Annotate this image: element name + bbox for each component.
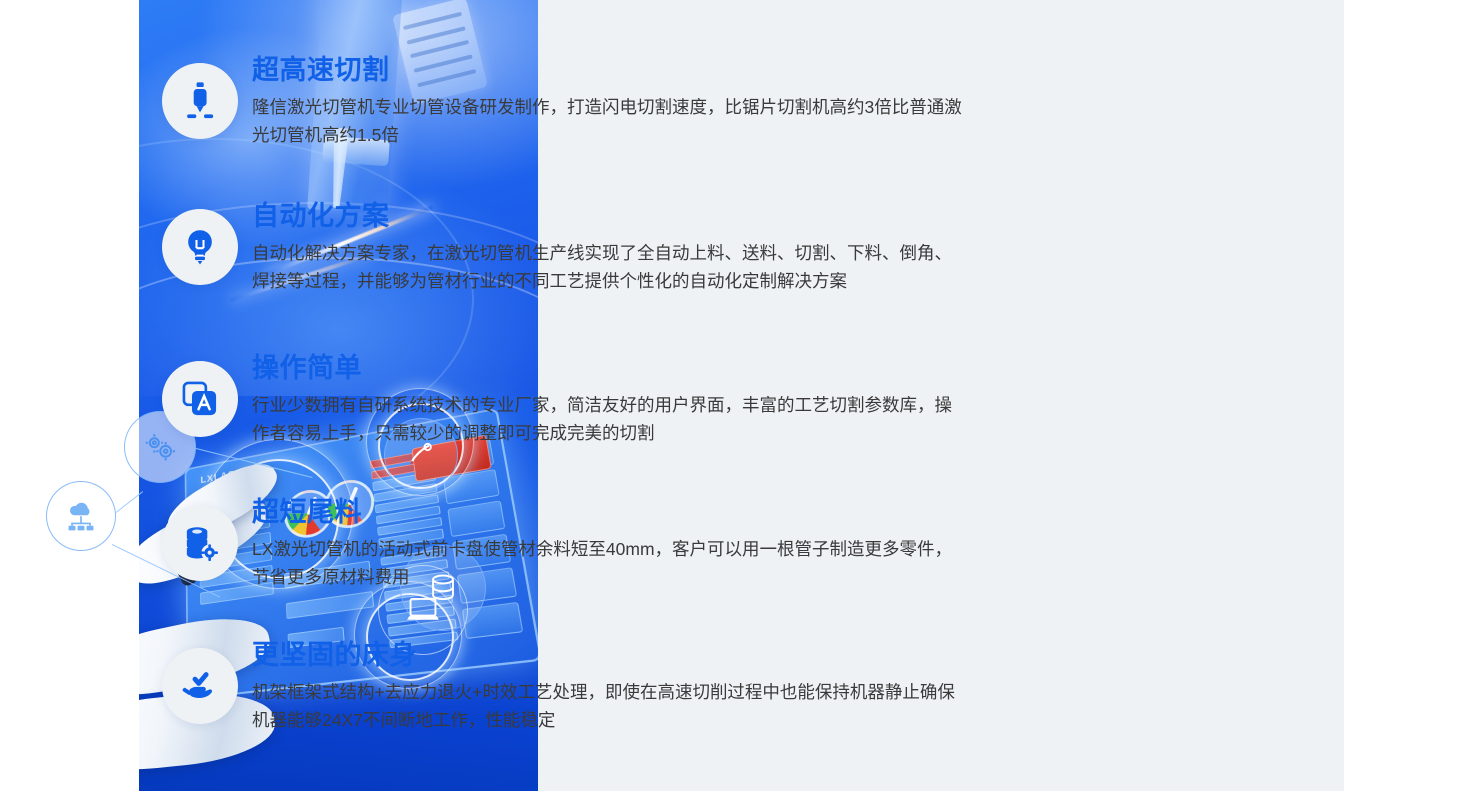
feature-desc: LX激光切管机的活动式前卡盘使管材余料短至40mm，客户可以用一根管子制造更多零… (252, 535, 967, 592)
hand-check-icon (180, 667, 220, 705)
feature-title: 操作简单 (252, 353, 967, 385)
feature-row: 操作简单 行业少数拥有自研系统技术的专业厂家，简洁友好的用户界面，丰富的工艺切割… (0, 353, 1008, 463)
feature-desc: 机架框架式结构+去应力退火+时效工艺处理，即使在高速切削过程中也能保持机器静止确… (252, 678, 967, 735)
feature-title: 更坚固的床身 (252, 640, 967, 672)
database-gear-icon (181, 524, 219, 562)
feature-desc: 隆信激光切管机专业切管设备研发制作，打造闪电切割速度，比锯片切割机高约3倍比普通… (252, 93, 967, 150)
laser-cutting-head-icon (182, 81, 218, 121)
feature-title: 超短尾料 (252, 497, 967, 529)
feature-row: 更坚固的床身 机架框架式结构+去应力退火+时效工艺处理，即使在高速切削过程中也能… (0, 640, 1008, 750)
feature-icon-lightbulb (162, 209, 238, 285)
feature-title: 超高速切割 (252, 55, 967, 87)
feature-row: 超短尾料 LX激光切管机的活动式前卡盘使管材余料短至40mm，客户可以用一根管子… (0, 497, 1008, 607)
feature-row: 自动化方案 自动化解决方案专家，在激光切管机生产线实现了全自动上料、送料、切割、… (0, 201, 1008, 311)
app-cards-a-icon (181, 380, 219, 418)
feature-icon-hand-check (162, 648, 238, 724)
feature-icon-app-cards (162, 361, 238, 437)
feature-icon-database-gear (162, 505, 238, 581)
feature-row: 超高速切割 隆信激光切管机专业切管设备研发制作，打造闪电切割速度，比锯片切割机高… (0, 55, 1008, 165)
feature-desc: 行业少数拥有自研系统技术的专业厂家，简洁友好的用户界面，丰富的工艺切割参数库，操… (252, 391, 967, 448)
lightbulb-icon (182, 228, 218, 266)
feature-icon-laser-cutting-head (162, 63, 238, 139)
feature-title: 自动化方案 (252, 201, 967, 233)
page-root: LXLASER (0, 0, 1480, 791)
feature-desc: 自动化解决方案专家，在激光切管机生产线实现了全自动上料、送料、切割、下料、倒角、… (252, 239, 967, 296)
